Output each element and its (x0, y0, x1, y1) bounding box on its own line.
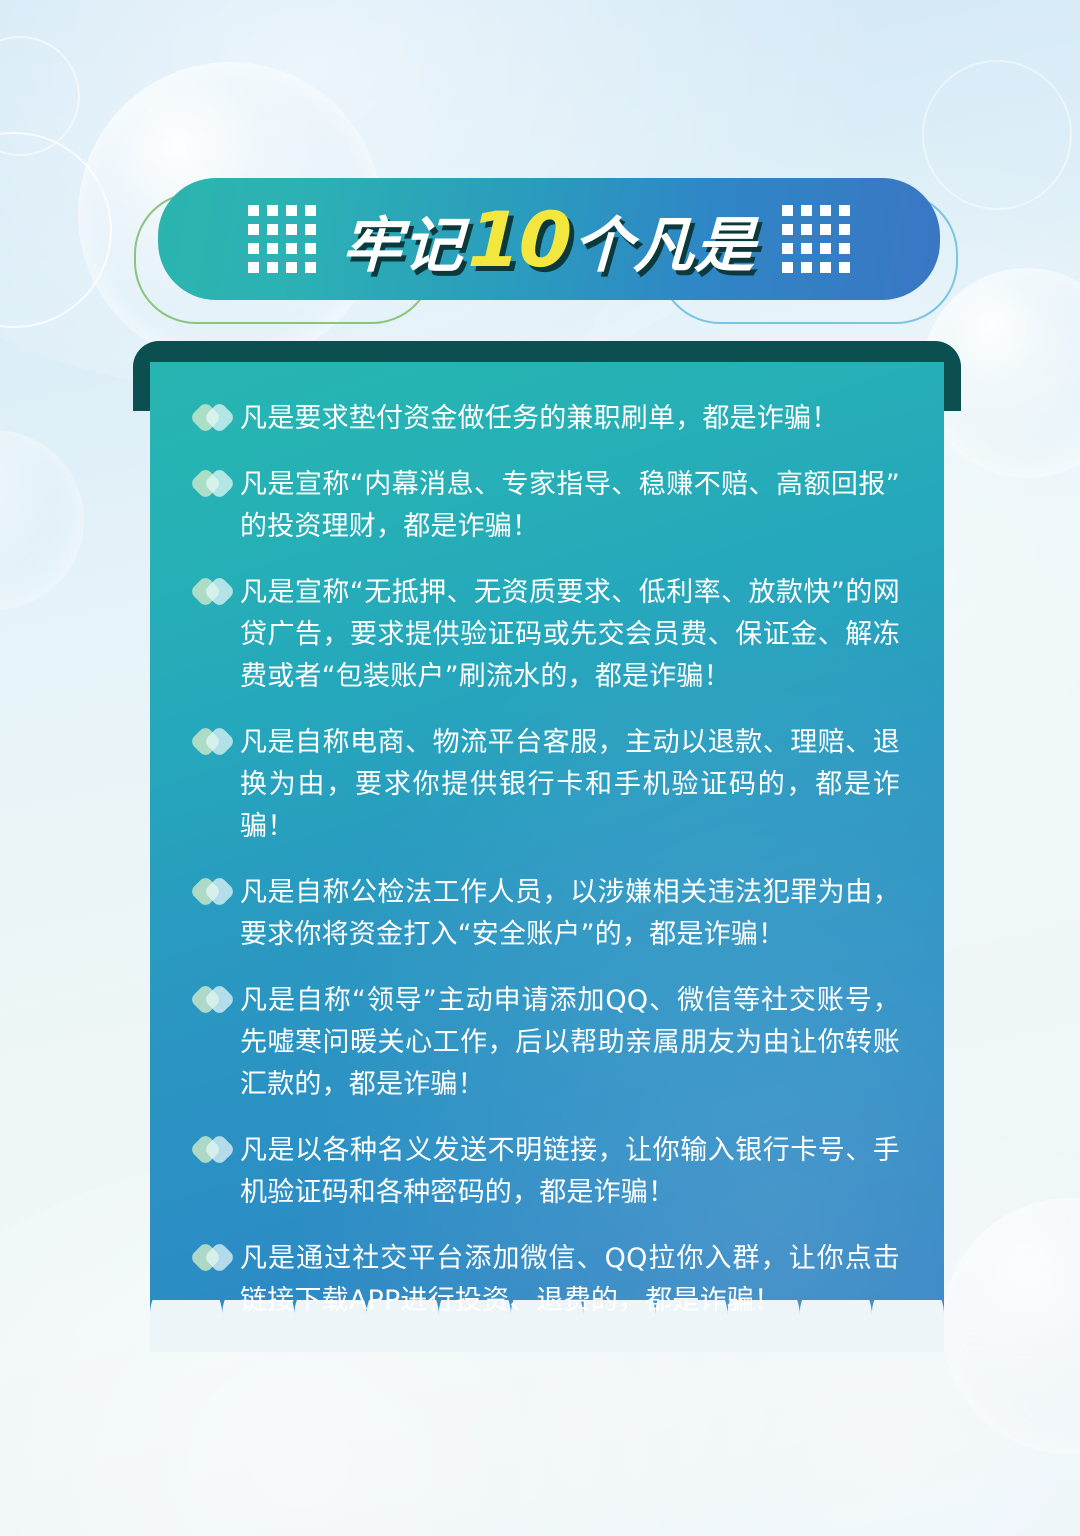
page-title: 牢记 10 个凡是 (342, 195, 757, 284)
list-item: 凡是宣称“无抵押、无资质要求、低利率、放款快”的网贷广告，要求提供验证码或先交会… (194, 572, 900, 698)
list-item-text: 凡是自称公检法工作人员，以涉嫌相关违法犯罪为由，要求你将资金打入“安全账户”的，… (240, 872, 900, 956)
bubble-left (0, 430, 84, 610)
dot-grid-icon (248, 205, 316, 273)
double-diamond-bullet-icon (194, 986, 240, 1016)
list-item-text: 凡是自称电商、物流平台客服，主动以退款、理赔、退换为由，要求你提供银行卡和手机验… (240, 722, 900, 848)
list-item: 凡是以网络兼职或投资理财等名义，要求通过快递、网约车等方式寄送现金或黄金的，都是… (194, 1346, 900, 1347)
header-banner: 牢记 10 个凡是 (158, 178, 940, 300)
double-diamond-bullet-icon (194, 728, 240, 758)
dot-grid-icon (782, 205, 850, 273)
double-diamond-bullet-icon (194, 470, 240, 500)
tips-card: 凡是要求垫付资金做任务的兼职刷单，都是诈骗！凡是宣称“内幕消息、专家指导、稳赚不… (150, 362, 944, 1347)
tips-list: 凡是要求垫付资金做任务的兼职刷单，都是诈骗！凡是宣称“内幕消息、专家指导、稳赚不… (150, 362, 944, 1347)
poster-root: 牢记 10 个凡是 凡是要求垫付资金做任务的兼职刷单，都是诈骗！凡是宣称“内幕消… (0, 0, 1080, 1536)
double-diamond-bullet-icon (194, 878, 240, 908)
list-item: 凡是自称“领导”主动申请添加QQ、微信等社交账号，先嘘寒问暖关心工作，后以帮助亲… (194, 980, 900, 1106)
title-number: 10 (462, 195, 575, 284)
double-diamond-bullet-icon (194, 404, 240, 434)
list-item-text: 凡是宣称“内幕消息、专家指导、稳赚不赔、高额回报”的投资理财，都是诈骗！ (240, 464, 900, 548)
list-item-text: 凡是要求垫付资金做任务的兼职刷单，都是诈骗！ (240, 398, 900, 440)
list-item: 凡是宣称“内幕消息、专家指导、稳赚不赔、高额回报”的投资理财，都是诈骗！ (194, 464, 900, 548)
list-item: 凡是以各种名义发送不明链接，让你输入银行卡号、手机验证码和各种密码的，都是诈骗！ (194, 1130, 900, 1214)
list-item-text: 凡是自称“领导”主动申请添加QQ、微信等社交账号，先嘘寒问暖关心工作，后以帮助亲… (240, 980, 900, 1106)
bubble-bottomright (942, 1198, 1080, 1454)
list-item-text: 凡是以各种名义发送不明链接，让你输入银行卡号、手机验证码和各种密码的，都是诈骗！ (240, 1130, 900, 1214)
list-item: 凡是自称电商、物流平台客服，主动以退款、理赔、退换为由，要求你提供银行卡和手机验… (194, 722, 900, 848)
list-item: 凡是通过社交平台添加微信、QQ拉你入群，让你点击链接下载APP进行投资、退费的，… (194, 1238, 900, 1322)
list-item: 凡是自称公检法工作人员，以涉嫌相关违法犯罪为由，要求你将资金打入“安全账户”的，… (194, 872, 900, 956)
list-item: 凡是要求垫付资金做任务的兼职刷单，都是诈骗！ (194, 398, 900, 440)
title-prefix: 牢记 (340, 197, 465, 284)
decorative-circle-outline (0, 36, 80, 156)
double-diamond-bullet-icon (194, 1244, 240, 1274)
double-diamond-bullet-icon (194, 1136, 240, 1166)
header-banner-area: 牢记 10 个凡是 (0, 178, 1080, 323)
list-item-text: 凡是以网络兼职或投资理财等名义，要求通过快递、网约车等方式寄送现金或黄金的，都是… (240, 1346, 900, 1347)
title-suffix: 个凡是 (572, 197, 758, 284)
double-diamond-bullet-icon (194, 578, 240, 608)
list-item-text: 凡是宣称“无抵押、无资质要求、低利率、放款快”的网贷广告，要求提供验证码或先交会… (240, 572, 900, 698)
list-item-text: 凡是通过社交平台添加微信、QQ拉你入群，让你点击链接下载APP进行投资、退费的，… (240, 1238, 900, 1322)
